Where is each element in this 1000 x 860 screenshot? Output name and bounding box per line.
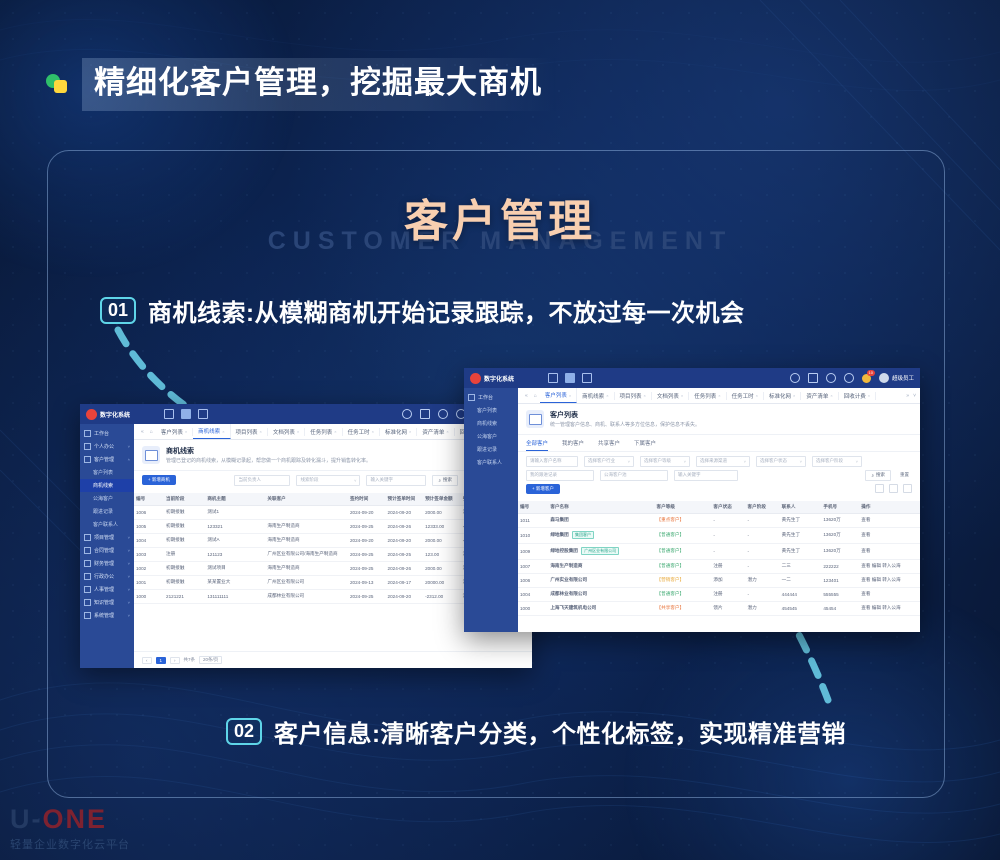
page-current[interactable]: 1 bbox=[156, 657, 167, 664]
sidebar-subitem-public-sea[interactable]: 公海客户 bbox=[464, 430, 518, 443]
filter-status-select[interactable]: 选择客户状态 ˅ bbox=[756, 456, 806, 467]
close-icon[interactable]: × bbox=[569, 393, 571, 398]
cell-amount: 2000.00 bbox=[423, 561, 461, 575]
cell-status: 注册 bbox=[711, 587, 745, 601]
sidebar-item-label: 财务管理 bbox=[94, 560, 114, 567]
customer-name: 广州实业有限公司 bbox=[550, 577, 587, 582]
brand-dot-icon bbox=[46, 73, 68, 95]
col-id: 编号 bbox=[518, 501, 548, 514]
close-icon[interactable]: × bbox=[222, 429, 224, 434]
filter-industry-select[interactable]: 选择客户行业 ˅ bbox=[584, 456, 634, 467]
tab-customer-list[interactable]: 客户列表× bbox=[156, 428, 193, 436]
cell-id: 1007 bbox=[518, 559, 548, 573]
tab-standard-net[interactable]: 标准化网× bbox=[380, 428, 417, 436]
cell-contact: 黄先生丁 bbox=[780, 527, 822, 543]
cell-phone: 13620万 bbox=[821, 527, 859, 543]
customer-icon bbox=[526, 410, 544, 428]
cell-stage: 初期接触 bbox=[164, 533, 205, 547]
close-icon[interactable]: × bbox=[868, 393, 870, 398]
cell-topic[interactable]: 121123 bbox=[205, 547, 265, 561]
cell-name[interactable]: 广州实业有限公司 bbox=[548, 573, 654, 587]
close-icon[interactable]: × bbox=[756, 393, 758, 398]
page-total-label: 共7条 bbox=[184, 657, 196, 663]
knowledge-icon bbox=[84, 599, 91, 606]
cell-ops[interactable]: 查看 bbox=[859, 513, 920, 527]
table-row[interactable]: 1000 上海飞天建筑机电公司 【共享客户】 馈片 潜力 454545 4545… bbox=[518, 601, 920, 615]
cell-topic[interactable]: 某某置业大 bbox=[205, 575, 265, 589]
cell-amount: 2000.00 bbox=[423, 533, 461, 547]
tabs-scroll-left-icon[interactable]: « bbox=[138, 429, 147, 435]
cell-sign-time: 2024-09-25 bbox=[348, 589, 386, 603]
sidebar-subitem-opportunity[interactable]: 商机线索 bbox=[80, 479, 134, 492]
feature-text-01: 商机线索:从模糊商机开始记录跟踪，不放过每一次机会 bbox=[148, 293, 745, 328]
close-icon[interactable]: × bbox=[185, 429, 187, 434]
table-row[interactable]: 1007 海南生产制造商 【普通客户】 注册 - 二三 222222 查看 编辑… bbox=[518, 559, 920, 573]
cell-stage: 初期接触 bbox=[164, 519, 205, 533]
cell-ops[interactable]: 查看 bbox=[859, 527, 920, 543]
cell-id: 1002 bbox=[134, 561, 164, 575]
add-customer-button[interactable]: + 新增客户 bbox=[526, 484, 560, 494]
cell-topic[interactable]: 123321 bbox=[205, 519, 265, 533]
lock-icon[interactable] bbox=[844, 373, 854, 383]
user-menu-right[interactable]: 超级员工 bbox=[879, 373, 914, 383]
cell-name[interactable]: 绿地控股集团 广州区业有限公司 bbox=[548, 543, 654, 559]
tab-task-hours[interactable]: 任务工时× bbox=[343, 428, 380, 436]
col-ops: 操作 bbox=[859, 501, 920, 514]
tab-label: 项目列表 bbox=[620, 392, 642, 400]
cell-name[interactable]: 上海飞天建筑机电公司 bbox=[548, 601, 654, 615]
tabs-menu-icon[interactable]: ˅ bbox=[913, 393, 916, 399]
filter-source-value: 选择来源渠道 bbox=[700, 458, 727, 464]
gear-icon[interactable] bbox=[826, 373, 836, 383]
filter-name-input[interactable]: 请输入客户名称 bbox=[526, 456, 578, 467]
tab-opportunity[interactable]: 商机线索× bbox=[193, 424, 230, 439]
hr-icon bbox=[84, 586, 91, 593]
cell-status: 馈片 bbox=[711, 601, 745, 615]
cell-id: 1000 bbox=[518, 601, 548, 615]
sidebar-subitem-follow-records[interactable]: 跟进记录 bbox=[80, 505, 134, 518]
col-contact: 联系人 bbox=[780, 501, 822, 514]
page-description: 统一管理客户信息、商机、联系人等多方位信息，保护信息不丢失。 bbox=[550, 422, 700, 429]
admin-icon bbox=[84, 573, 91, 580]
cell-id: 1000 bbox=[134, 589, 164, 603]
cell-name[interactable]: 成都林业有限公司 bbox=[548, 587, 654, 601]
notification-badge: 10 bbox=[867, 370, 875, 376]
page-header-banner: 精细化客户管理，挖掘最大商机 bbox=[82, 58, 558, 111]
topbar-icons-left bbox=[164, 409, 208, 419]
table-row[interactable]: 1010 绿地集团 集团客户 【普通客户】 - - 黄先生丁 13620万 bbox=[518, 527, 920, 543]
cell-sign-time: 2024-09-20 bbox=[348, 533, 386, 547]
cell-sign-time: 2024-09-25 bbox=[348, 561, 386, 575]
help-icon[interactable] bbox=[903, 484, 912, 493]
sidebar-right: 工作台 客户列表 商机线索 公海客户 跟进记录 客户联系人 bbox=[464, 388, 518, 632]
cell-expect-time: 2024-09-20 bbox=[386, 505, 424, 519]
cell-id: 1010 bbox=[518, 527, 548, 543]
cell-stage: 初期接触 bbox=[164, 505, 205, 519]
col-level: 客户等级 bbox=[655, 501, 712, 514]
col-id: 编号 bbox=[134, 493, 164, 506]
sidebar-item-hr[interactable]: 人事管理 ˅ bbox=[80, 583, 134, 596]
cell-expect-time: 2024-09-20 bbox=[386, 589, 424, 603]
cell-status: - bbox=[711, 543, 745, 559]
table-tools bbox=[875, 484, 912, 493]
subtab-my-customers[interactable]: 我的客户 bbox=[562, 439, 584, 451]
chevron-down-icon: ˅ bbox=[856, 459, 858, 464]
sidebar-item-label: 知识管理 bbox=[94, 599, 114, 606]
close-icon[interactable]: × bbox=[644, 393, 646, 398]
table-row[interactable]: 1004 成都林业有限公司 【普通客户】 注册 - 444444 555555 … bbox=[518, 587, 920, 601]
customer-icon bbox=[84, 456, 91, 463]
column-settings-icon[interactable] bbox=[875, 484, 884, 493]
tab-task-hours[interactable]: 任务工时× bbox=[727, 392, 764, 400]
cell-amount: 20000.00 bbox=[423, 575, 461, 589]
page-next-button[interactable]: › bbox=[170, 657, 180, 664]
cell-phase: - bbox=[746, 559, 780, 573]
tab-project-list[interactable]: 项目列表× bbox=[615, 392, 652, 400]
customer-tag: 广州区业有限公司 bbox=[581, 547, 619, 555]
customer-name: 上海飞天建筑机电公司 bbox=[550, 605, 596, 610]
table-row[interactable]: 1009 绿地控股集团 广州区业有限公司 【普通客户】 - - 黄先生丁 136… bbox=[518, 543, 920, 559]
cell-name[interactable]: 海南生产制造商 bbox=[548, 559, 654, 573]
opportunity-icon bbox=[142, 446, 160, 464]
gear-icon[interactable] bbox=[438, 409, 448, 419]
cell-customer: 海南生产制造商 bbox=[265, 561, 348, 575]
fullscreen-icon[interactable] bbox=[420, 409, 430, 419]
sidebar-subitem-opportunity[interactable]: 商机线索 bbox=[464, 417, 518, 430]
page-prev-button[interactable]: ‹ bbox=[142, 657, 152, 664]
filter-bar-right: 请输入客户名称 选择客户行业 ˅ 选择客户等级 ˅ 选择来源 bbox=[518, 452, 920, 501]
tab-label: 任务工时 bbox=[732, 392, 754, 400]
sidebar-item-label: 合同管理 bbox=[94, 547, 114, 554]
cell-ops[interactable]: 查看 编辑 转入公海 bbox=[859, 573, 920, 587]
tab-asset-list[interactable]: 资产清单× bbox=[417, 428, 454, 436]
export-icon[interactable] bbox=[889, 484, 898, 493]
sidebar-item-contract[interactable]: 合同管理 ˅ bbox=[80, 544, 134, 557]
col-customer: 关联客户 bbox=[265, 493, 348, 506]
search-button[interactable]: ⌕ 搜索 bbox=[432, 475, 458, 486]
filter-owner-select[interactable]: 当前负责人 bbox=[234, 475, 290, 486]
user-name-label: 超级员工 bbox=[892, 374, 914, 382]
sidebar-left: 工作台 个人办公 ˅ 客户管理 ˄ 客户列表 商机线索 公海客户 bbox=[80, 424, 134, 668]
feature-number-01: 01 bbox=[100, 297, 136, 325]
page-size-select[interactable]: 20条/页 bbox=[199, 656, 222, 664]
apps-icon[interactable] bbox=[582, 373, 592, 383]
cell-stage: 注册 bbox=[164, 547, 205, 561]
cell-ops[interactable]: 查看 编辑 转入公海 bbox=[859, 601, 920, 615]
sidebar-item-workbench[interactable]: 工作台 bbox=[464, 391, 518, 404]
cell-phone: 222222 bbox=[821, 559, 859, 573]
chevron-down-icon: ˅ bbox=[800, 459, 802, 464]
table-row[interactable]: 1011 森马集团 【重点客户】 - - 黄先生丁 13620万 查看 bbox=[518, 513, 920, 527]
logo-text: U-ONE bbox=[10, 806, 130, 833]
close-icon[interactable]: × bbox=[372, 429, 374, 434]
filter-level-select[interactable]: 选择客户等级 ˅ bbox=[640, 456, 690, 467]
page-header: 精细化客户管理，挖掘最大商机 bbox=[46, 58, 558, 111]
sidebar-item-label: 行政办公 bbox=[94, 573, 114, 580]
reset-button[interactable]: 重置 bbox=[897, 472, 912, 478]
tab-bar-right: « ⌂ 客户列表× 商机线索× 项目列表× 文档列表× 任务列表× 任务工时× … bbox=[518, 388, 920, 404]
tab-label: 商机线索 bbox=[198, 427, 220, 435]
filter-source-select[interactable]: 选择来源渠道 ˅ bbox=[696, 456, 750, 467]
cell-customer bbox=[265, 505, 348, 519]
sidebar-subitem-follow-records[interactable]: 跟进记录 bbox=[464, 443, 518, 456]
cell-customer: 广州区业有限公司/海南生产制造商 bbox=[265, 547, 348, 561]
filter-keyword-value: 输入关键字 bbox=[370, 477, 393, 483]
brand-logo-icon bbox=[470, 373, 481, 384]
chevron-down-icon: ˅ bbox=[128, 561, 130, 566]
customer-table: 编号 客户名称 客户等级 客户状态 客户阶段 联系人 手机号 操作 bbox=[518, 501, 920, 616]
megaphone-icon[interactable] bbox=[181, 409, 191, 419]
tab-label: 资产清单 bbox=[806, 392, 828, 400]
cell-phone: 13620万 bbox=[821, 513, 859, 527]
cell-contact: 黄先生丁 bbox=[780, 513, 822, 527]
table-row[interactable]: 1006 广州实业有限公司 【营销客户】 添加 潜力 一二 123401 查看 … bbox=[518, 573, 920, 587]
subtab-shared-customers[interactable]: 共享客户 bbox=[598, 439, 620, 451]
sidebar-item-system[interactable]: 系统管理 ˅ bbox=[80, 609, 134, 622]
sidebar-item-label: 工作台 bbox=[478, 394, 493, 401]
col-phase: 客户阶段 bbox=[746, 501, 780, 514]
cell-topic[interactable]: 测试项目 bbox=[205, 561, 265, 575]
screenshot-customer-list: 数字化系统 10 超级员工 bbox=[464, 368, 920, 632]
cell-phase: - bbox=[746, 543, 780, 559]
sidebar-subitem-public-sea[interactable]: 公海客户 bbox=[80, 492, 134, 505]
filter-phase-select[interactable]: 选择客户阶段 ˅ bbox=[812, 456, 862, 467]
page-head-right: 客户列表 统一管理客户信息、商机、联系人等多方位信息，保护信息不丢失。 bbox=[518, 404, 920, 435]
cell-phase: - bbox=[746, 587, 780, 601]
tab-opportunity[interactable]: 商机线索× bbox=[577, 392, 614, 400]
sidebar-item-label: 人事管理 bbox=[94, 586, 114, 593]
logo-u: U- bbox=[10, 804, 43, 834]
cell-expect-time: 2024-09-20 bbox=[386, 533, 424, 547]
sidebar-item-project[interactable]: 项目管理 ˅ bbox=[80, 531, 134, 544]
cell-contact: 454545 bbox=[780, 601, 822, 615]
fullscreen-icon[interactable] bbox=[808, 373, 818, 383]
subtab-all-customers[interactable]: 全部客户 bbox=[526, 439, 548, 451]
tab-bar-actions: » ˅ bbox=[906, 393, 916, 399]
chevron-down-icon: ˅ bbox=[628, 459, 630, 464]
subtab-subordinate-customers[interactable]: 下属客户 bbox=[634, 439, 656, 451]
col-amount: 预计签单金额 bbox=[423, 493, 461, 506]
sidebar-subitem-contacts[interactable]: 客户联系人 bbox=[80, 518, 134, 531]
col-phone: 手机号 bbox=[821, 501, 859, 514]
topbar-icons-right bbox=[548, 373, 592, 383]
cell-id: 1006 bbox=[134, 505, 164, 519]
logo-tagline: 轻量企业数字化云平台 bbox=[10, 836, 130, 852]
finance-icon bbox=[84, 560, 91, 567]
sidebar-item-label: 个人办公 bbox=[94, 443, 114, 450]
cell-status: 添加 bbox=[711, 573, 745, 587]
col-stage: 当前阶段 bbox=[164, 493, 205, 506]
cell-expect-time: 2024-09-17 bbox=[386, 575, 424, 589]
sidebar-item-label: 客户管理 bbox=[94, 456, 114, 463]
feature-item-02: 02 客户信息:清晰客户分类，个性化标签，实现精准营销 bbox=[226, 714, 846, 749]
cell-phase: 潜力 bbox=[746, 601, 780, 615]
filter-name-value: 请输入客户名称 bbox=[530, 458, 562, 464]
cell-phone: 123401 bbox=[821, 573, 859, 587]
tab-customer-list[interactable]: 客户列表× bbox=[540, 388, 577, 403]
search-label: 搜索 bbox=[876, 472, 885, 478]
workbench-icon bbox=[84, 430, 91, 437]
close-icon[interactable]: × bbox=[260, 429, 262, 434]
sidebar-subitem-customer-list[interactable]: 客户列表 bbox=[80, 466, 134, 479]
cell-name[interactable]: 绿地集团 集团客户 bbox=[548, 527, 654, 543]
close-icon[interactable]: × bbox=[297, 429, 299, 434]
close-icon[interactable]: × bbox=[718, 393, 720, 398]
customer-name: 绿地集团 bbox=[550, 532, 568, 537]
tabs-home-icon[interactable]: ⌂ bbox=[531, 393, 540, 399]
sidebar-item-admin[interactable]: 行政办公 ˅ bbox=[80, 570, 134, 583]
tab-label: 项目列表 bbox=[236, 428, 258, 436]
cell-contact: 二三 bbox=[780, 559, 822, 573]
app-brand-right: 数字化系统 bbox=[470, 373, 542, 384]
tab-label: 标准化网 bbox=[769, 392, 791, 400]
tab-document-list[interactable]: 文档列表× bbox=[268, 428, 305, 436]
bell-icon[interactable]: 10 bbox=[862, 374, 871, 383]
cell-customer: 广州区业有限公司 bbox=[265, 575, 348, 589]
avatar bbox=[879, 373, 889, 383]
sidebar-item-label: 工作台 bbox=[94, 430, 109, 437]
tab-label: 回收计费 bbox=[844, 392, 866, 400]
contract-icon bbox=[84, 547, 91, 554]
cell-expect-time: 2024-09-26 bbox=[386, 519, 424, 533]
cell-amount: 123.00 bbox=[423, 547, 461, 561]
tab-standard-net[interactable]: 标准化网× bbox=[764, 392, 801, 400]
chevron-up-icon: ˄ bbox=[128, 457, 130, 462]
filter-level-value: 选择客户等级 bbox=[644, 458, 671, 464]
close-icon[interactable]: × bbox=[606, 393, 608, 398]
filter-phase-value: 选择客户阶段 bbox=[816, 458, 843, 464]
app-topbar-right: 数字化系统 10 超级员工 bbox=[464, 368, 920, 388]
tab-label: 任务工时 bbox=[348, 428, 370, 436]
cell-phone: 555555 bbox=[821, 587, 859, 601]
cell-status: - bbox=[711, 513, 745, 527]
refresh-icon[interactable] bbox=[790, 373, 800, 383]
megaphone-icon[interactable] bbox=[565, 373, 575, 383]
tab-label: 客户列表 bbox=[545, 391, 567, 399]
sidebar-subitem-contacts[interactable]: 客户联系人 bbox=[464, 456, 518, 469]
filter-stage-select[interactable]: 线索阶段 ˅ bbox=[296, 475, 360, 486]
cell-sign-time: 2024-09-13 bbox=[348, 575, 386, 589]
layout-icon[interactable] bbox=[164, 409, 174, 419]
cell-name[interactable]: 森马集团 bbox=[548, 513, 654, 527]
filter-public-sea[interactable]: 公海客户池 bbox=[600, 470, 668, 481]
cell-expect-time: 2024-09-25 bbox=[386, 547, 424, 561]
tab-label: 文档列表 bbox=[657, 392, 679, 400]
footer-logo: U-ONE 轻量企业数字化云平台 bbox=[10, 806, 130, 852]
chevron-down-icon: ˅ bbox=[128, 574, 130, 579]
cell-customer: 海南生产制造商 bbox=[265, 533, 348, 547]
cell-phase: - bbox=[746, 513, 780, 527]
hero-title-cn: 客户管理 bbox=[0, 185, 1000, 249]
customer-name: 森马集团 bbox=[550, 517, 568, 522]
search-icon: ⌕ bbox=[438, 478, 441, 483]
workbench-icon bbox=[468, 394, 475, 401]
sidebar-item-knowledge[interactable]: 知识管理 ˅ bbox=[80, 596, 134, 609]
topbar-right-right: 10 超级员工 bbox=[790, 373, 914, 383]
brand-name-label: 数字化系统 bbox=[100, 410, 130, 419]
search-icon: ⌕ bbox=[871, 473, 874, 478]
cell-sign-time: 2024-09-20 bbox=[348, 505, 386, 519]
tab-project-list[interactable]: 项目列表× bbox=[231, 428, 268, 436]
cell-ops[interactable]: 查看 bbox=[859, 587, 920, 601]
tabs-scroll-right-icon[interactable]: » bbox=[906, 393, 909, 399]
cell-topic[interactable]: 测试A bbox=[205, 533, 265, 547]
cell-stage: 初期接触 bbox=[164, 575, 205, 589]
close-icon[interactable]: × bbox=[409, 429, 411, 434]
feature-text-02: 客户信息:清晰客户分类，个性化标签，实现精准营销 bbox=[274, 714, 846, 749]
layout-icon[interactable] bbox=[548, 373, 558, 383]
cell-amount: 2000.00 bbox=[423, 505, 461, 519]
search-label: 搜索 bbox=[443, 477, 452, 483]
cell-ops[interactable]: 查看 bbox=[859, 543, 920, 559]
cell-topic[interactable]: 131111111 bbox=[205, 589, 265, 603]
col-sign-time: 签约时间 bbox=[348, 493, 386, 506]
tab-document-list[interactable]: 文档列表× bbox=[652, 392, 689, 400]
sidebar-item-label: 项目管理 bbox=[94, 534, 114, 541]
close-icon[interactable]: × bbox=[681, 393, 683, 398]
close-icon[interactable]: × bbox=[446, 429, 448, 434]
cell-topic[interactable]: 测试1 bbox=[205, 505, 265, 519]
table-header-row: 编号 客户名称 客户等级 客户状态 客户阶段 联系人 手机号 操作 bbox=[518, 501, 920, 514]
sidebar-item-personal[interactable]: 个人办公 ˅ bbox=[80, 440, 134, 453]
tab-asset-list[interactable]: 资产清单× bbox=[801, 392, 838, 400]
add-opportunity-button[interactable]: + 新增商机 bbox=[142, 475, 176, 485]
close-icon[interactable]: × bbox=[830, 393, 832, 398]
filter-keyword-input[interactable]: 输入关键字 bbox=[674, 470, 738, 481]
cell-status: 注册 bbox=[711, 559, 745, 573]
filter-sea-value: 公海客户池 bbox=[604, 472, 627, 478]
app-brand-left: 数字化系统 bbox=[86, 409, 158, 420]
filter-keyword-input[interactable]: 输入关键字 bbox=[366, 475, 426, 486]
search-button[interactable]: ⌕ 搜索 bbox=[865, 470, 891, 481]
refresh-icon[interactable] bbox=[402, 409, 412, 419]
cell-phone: 13620万 bbox=[821, 543, 859, 559]
page-title: 精细化客户管理，挖掘最大商机 bbox=[94, 64, 542, 103]
sidebar-item-finance[interactable]: 财务管理 ˅ bbox=[80, 557, 134, 570]
filter-follow-records[interactable]: 我的跟进记录 bbox=[526, 470, 594, 481]
tab-recycle-billing[interactable]: 回收计费× bbox=[839, 392, 876, 400]
cell-ops[interactable]: 查看 编辑 转入公海 bbox=[859, 559, 920, 573]
brand-name-label: 数字化系统 bbox=[484, 374, 514, 383]
sidebar-item-workbench[interactable]: 工作台 bbox=[80, 427, 134, 440]
tab-label: 任务列表 bbox=[310, 428, 332, 436]
sidebar-item-customer[interactable]: 客户管理 ˄ bbox=[80, 453, 134, 466]
chevron-down-icon: ˅ bbox=[128, 600, 130, 605]
tabs-scroll-left-icon[interactable]: « bbox=[522, 393, 531, 399]
cell-stage: 2121221 bbox=[164, 589, 205, 603]
tabs-home-icon[interactable]: ⌂ bbox=[147, 429, 156, 435]
sidebar-subitem-customer-list[interactable]: 客户列表 bbox=[464, 404, 518, 417]
close-icon[interactable]: × bbox=[793, 393, 795, 398]
customer-name: 海南生产制造商 bbox=[550, 563, 582, 568]
close-icon[interactable]: × bbox=[334, 429, 336, 434]
chevron-down-icon: ˅ bbox=[128, 444, 130, 449]
tab-task-list[interactable]: 任务列表× bbox=[305, 428, 342, 436]
feature-number-02: 02 bbox=[226, 718, 262, 746]
cell-id: 1001 bbox=[134, 575, 164, 589]
cell-level: 【营销客户】 bbox=[655, 573, 712, 587]
tab-label: 任务列表 bbox=[694, 392, 716, 400]
tab-task-list[interactable]: 任务列表× bbox=[689, 392, 726, 400]
apps-icon[interactable] bbox=[198, 409, 208, 419]
chevron-down-icon: ˅ bbox=[128, 613, 130, 618]
cell-phone: 45454 bbox=[821, 601, 859, 615]
cell-level: 【普通客户】 bbox=[655, 587, 712, 601]
cell-level: 【普通客户】 bbox=[655, 543, 712, 559]
filter-status-value: 选择客户状态 bbox=[760, 458, 787, 464]
customer-name: 绿地控股集团 bbox=[550, 548, 578, 553]
cell-id: 1006 bbox=[518, 573, 548, 587]
